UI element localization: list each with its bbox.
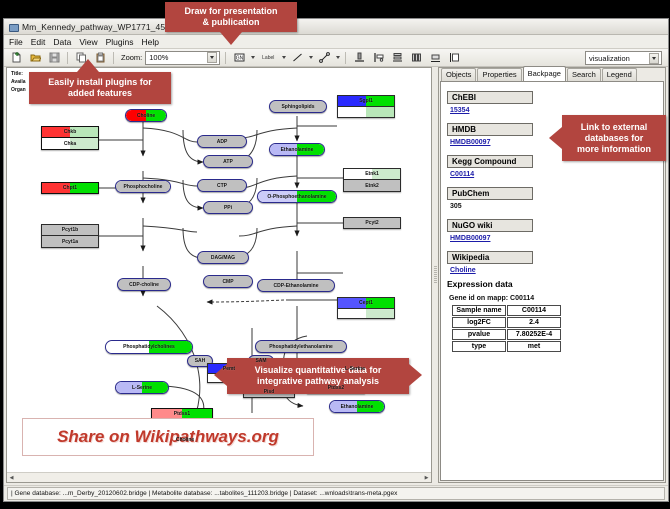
menu-item-file[interactable]: File [9,37,23,47]
db-link-nugo[interactable]: HMDB00097 [450,235,657,242]
save-file-button[interactable] [46,50,62,66]
db-block-chebi: ChEBI 15354 [447,87,657,114]
size-width-button[interactable] [427,50,443,66]
node-label: ATP [223,159,233,165]
node-adp[interactable]: ADP [197,135,247,148]
node-label: SAM [255,358,266,364]
menu-item-data[interactable]: Data [53,37,71,47]
expr-value: 7.80252E-4 [507,329,561,340]
expression-data-heading: Expression data [447,279,657,289]
callout-plugins-line2: added features [68,88,132,99]
node-label: CMP [222,279,233,285]
node-label: Pcyt1a [62,239,78,245]
node-label: DAG/MAG [211,255,235,261]
node-ctp[interactable]: CTP [197,179,247,192]
db-name-nugo: NuGO wiki [447,219,533,232]
node-label: Ptdss2 [328,385,344,391]
stack-center-button[interactable] [389,50,405,66]
screenshot-root: Mm_Kennedy_pathway_WP1771_45176.gpml Fil… [0,0,670,509]
expr-value: met [507,341,561,352]
node-l-serine-left[interactable]: L-Serine [115,381,169,394]
callout-draw-arrow [220,32,242,45]
toolbar-separator [225,52,226,64]
table-row: pvalue 7.80252E-4 [452,329,561,340]
node-label: ADP [217,139,228,145]
expr-key: type [452,341,506,352]
callout-visualize-arrow-right [409,364,422,386]
callout-links-line1: Link to external [581,122,648,133]
node-label: CDP-Ethanolamine [273,283,318,289]
node-sgpl1[interactable]: Sgpl1 [337,95,395,107]
db-name-wikipedia: Wikipedia [447,251,533,264]
tab-legend[interactable]: Legend [602,68,637,81]
node-label: Pcyt1b [62,227,78,233]
db-name-hmdb: HMDB [447,123,533,136]
node-label: Phosphatidylethanolamine [269,344,333,350]
node-label: CDP-choline [129,282,159,288]
align-bottom-button[interactable] [351,50,367,66]
callout-links-line3: more information [577,144,651,155]
expr-value: C00114 [507,305,561,316]
node-o-phosphoethanolamine[interactable]: O-Phosphoethanolamine [257,190,337,203]
node-ethanolamine-top[interactable]: Ethanolamine [269,143,325,156]
gene-id-on-mapp: Gene id on mapp: C00114 [449,295,657,302]
canvas-horizontal-scrollbar[interactable]: ◀ ▶ [7,472,431,482]
node-cept1[interactable]: Cept1 [337,297,395,309]
zoom-combo[interactable]: 100% [145,51,220,65]
db-block-nugo: NuGO wiki HMDB00097 [447,215,657,242]
node-pcyt1b[interactable]: Pcyt1b [41,224,99,236]
table-row: log2FC 2.4 [452,317,561,328]
zoom-value: 100% [149,53,168,62]
datanode-button[interactable]: GN [231,50,247,66]
table-row: type met [452,341,561,352]
node-cdp-ethanolamine[interactable]: CDP-Ethanolamine [257,279,335,292]
callout-links-arrow [549,127,562,149]
size-height-button[interactable] [446,50,462,66]
sidepanel-tabs: Objects Properties Backpage Search Legen… [439,68,665,81]
node-dagmag[interactable]: DAG/MAG [197,251,249,264]
chevron-down-icon[interactable] [309,56,313,59]
chevron-down-icon[interactable] [336,56,340,59]
toolbar-separator [113,52,114,64]
callout-share: Share on Wikipathways.org [22,418,314,456]
expression-table: Sample name C00114 log2FC 2.4 pvalue 7.8… [451,304,562,353]
node-cdp-choline[interactable]: CDP-choline [117,278,171,291]
tab-search[interactable]: Search [567,68,601,81]
node-etnk2[interactable]: Etnk2 [343,180,401,192]
menu-item-plugins[interactable]: Plugins [106,37,134,47]
db-value-pubchem: 305 [450,203,657,210]
statusbar: | Gene database: ...m_Derby_20120602.bri… [4,485,668,501]
node-label: Sphingolipids [281,104,314,110]
db-block-wikipedia: Wikipedia Choline [447,247,657,274]
node-ppi[interactable]: PPi [203,201,253,214]
node-chpt1[interactable]: Chpt1 [41,182,99,194]
node-pcyt1a[interactable]: Pcyt1a [41,236,99,248]
node-sgpl1-bottom[interactable] [337,107,395,118]
node-label: Chpt1 [63,185,77,191]
callout-draw-line1: Draw for presentation [184,6,277,17]
node-pcyt2[interactable]: Pcyt2 [343,217,401,229]
scroll-left-icon[interactable]: ◀ [7,473,16,482]
node-sphingolipids[interactable]: Sphingolipids [269,100,327,113]
node-label: Cept1 [359,300,373,306]
scroll-right-icon[interactable]: ▶ [422,473,431,482]
db-link-wikipedia[interactable]: Choline [450,267,657,274]
node-atp[interactable]: ATP [203,155,253,168]
node-phosphatidylcholines[interactable]: Phosphatidylcholines [105,340,193,354]
callout-share-text: Share on Wikipathways.org [57,427,279,447]
node-phosphatidylethanolamine[interactable]: Phosphatidylethanolamine [255,340,347,353]
db-link-kegg[interactable]: C00114 [450,171,657,178]
node-label: Sgpl1 [359,98,373,104]
chevron-down-icon[interactable] [282,56,286,59]
callout-plugins: Easily install plugins for added feature… [29,72,171,104]
callout-plugins-arrow [77,59,99,72]
toolbar-separator [345,52,346,64]
callout-links-line2: databases for [585,133,644,144]
node-phosphocholine[interactable]: Phosphocholine [115,180,171,193]
node-choline-top[interactable]: Choline [125,109,167,122]
node-etnk1[interactable]: Etnk1 [343,168,401,180]
db-name-chebi: ChEBI [447,91,533,104]
chevron-down-icon[interactable] [251,56,255,59]
open-file-button[interactable] [27,50,43,66]
node-label: CTP [217,183,227,189]
expr-value: 2.4 [507,317,561,328]
node-label: Etnk1 [365,171,379,177]
callout-draw-line2: & publication [203,17,260,28]
node-label: Ethanolamine [341,404,374,410]
chevron-down-icon[interactable] [649,53,659,64]
align-left-button[interactable] [370,50,386,66]
menu-item-help[interactable]: Help [142,37,159,47]
tab-objects[interactable]: Objects [441,68,476,81]
node-label: Choline [137,113,155,119]
menu-item-view[interactable]: View [79,37,97,47]
node-label: Etnk2 [365,183,379,189]
svg-text:GN: GN [236,56,244,62]
tab-backpage[interactable]: Backpage [523,66,566,81]
node-label: Phosphocholine [124,184,163,190]
node-label: PPi [224,205,232,211]
node-label: Choline [176,437,194,443]
table-row: Sample name C00114 [452,305,561,316]
node-label: L-Serine [132,385,152,391]
zoom-label: Zoom: [121,53,142,62]
callout-plugins-line1: Easily install plugins for [48,77,152,88]
label-button-text: Label [262,55,274,61]
new-file-button[interactable] [8,50,24,66]
db-link-chebi[interactable]: 15354 [450,107,657,114]
visualization-value: visualization [589,54,630,63]
pathway-diagram: Title: Availa Organ [7,68,431,473]
status-text: | Gene database: ...m_Derby_20120602.bri… [11,490,397,497]
line-button[interactable] [289,50,305,66]
callout-visualize-line2: integrative pathway analysis [257,376,379,387]
node-chka[interactable]: Chka [41,138,99,150]
expr-key: Sample name [452,305,506,316]
distribute-button[interactable] [408,50,424,66]
node-label: Ptdss1 [174,411,190,417]
node-cept1-bottom[interactable] [337,309,395,319]
node-label: Chka [64,141,76,147]
node-chkb[interactable]: Chkb [41,126,99,138]
tab-properties[interactable]: Properties [477,68,521,81]
callout-draw: Draw for presentation & publication [165,2,297,32]
status-field: | Gene database: ...m_Derby_20120602.bri… [7,487,665,500]
db-name-pubchem: PubChem [447,187,533,200]
node-label: Pisd [264,389,275,395]
window-titlebar: Mm_Kennedy_pathway_WP1771_45176.gpml [4,19,668,35]
node-label: Phosphatidylcholines [123,344,175,350]
app-icon [8,22,18,32]
callout-links: Link to external databases for more info… [562,115,666,161]
db-block-pubchem: PubChem 305 [447,183,657,210]
node-label: O-Phosphoethanolamine [267,194,326,200]
node-label: Ethanolamine [281,147,314,153]
node-label: Chkb [64,129,77,135]
expr-key: log2FC [452,317,506,328]
node-label: Pemt [223,366,235,372]
label-button[interactable]: Label [258,50,278,66]
node-label: Pcyt2 [365,220,378,226]
chevron-down-icon[interactable] [207,52,217,63]
interaction-button[interactable] [316,50,332,66]
pathway-canvas[interactable]: Title: Availa Organ [7,68,431,473]
menubar: File Edit Data View Plugins Help [4,35,668,49]
expr-key: pvalue [452,329,506,340]
menu-item-edit[interactable]: Edit [31,37,46,47]
node-label: L-Serine [345,366,365,372]
visualization-combo[interactable]: visualization [585,51,662,65]
toolbar-separator [67,52,68,64]
node-ethanolamine-bottom[interactable]: Ethanolamine [329,400,385,413]
db-name-kegg: Kegg Compound [447,155,533,168]
node-cmp[interactable]: CMP [203,275,253,288]
node-label: SAH [195,358,206,364]
